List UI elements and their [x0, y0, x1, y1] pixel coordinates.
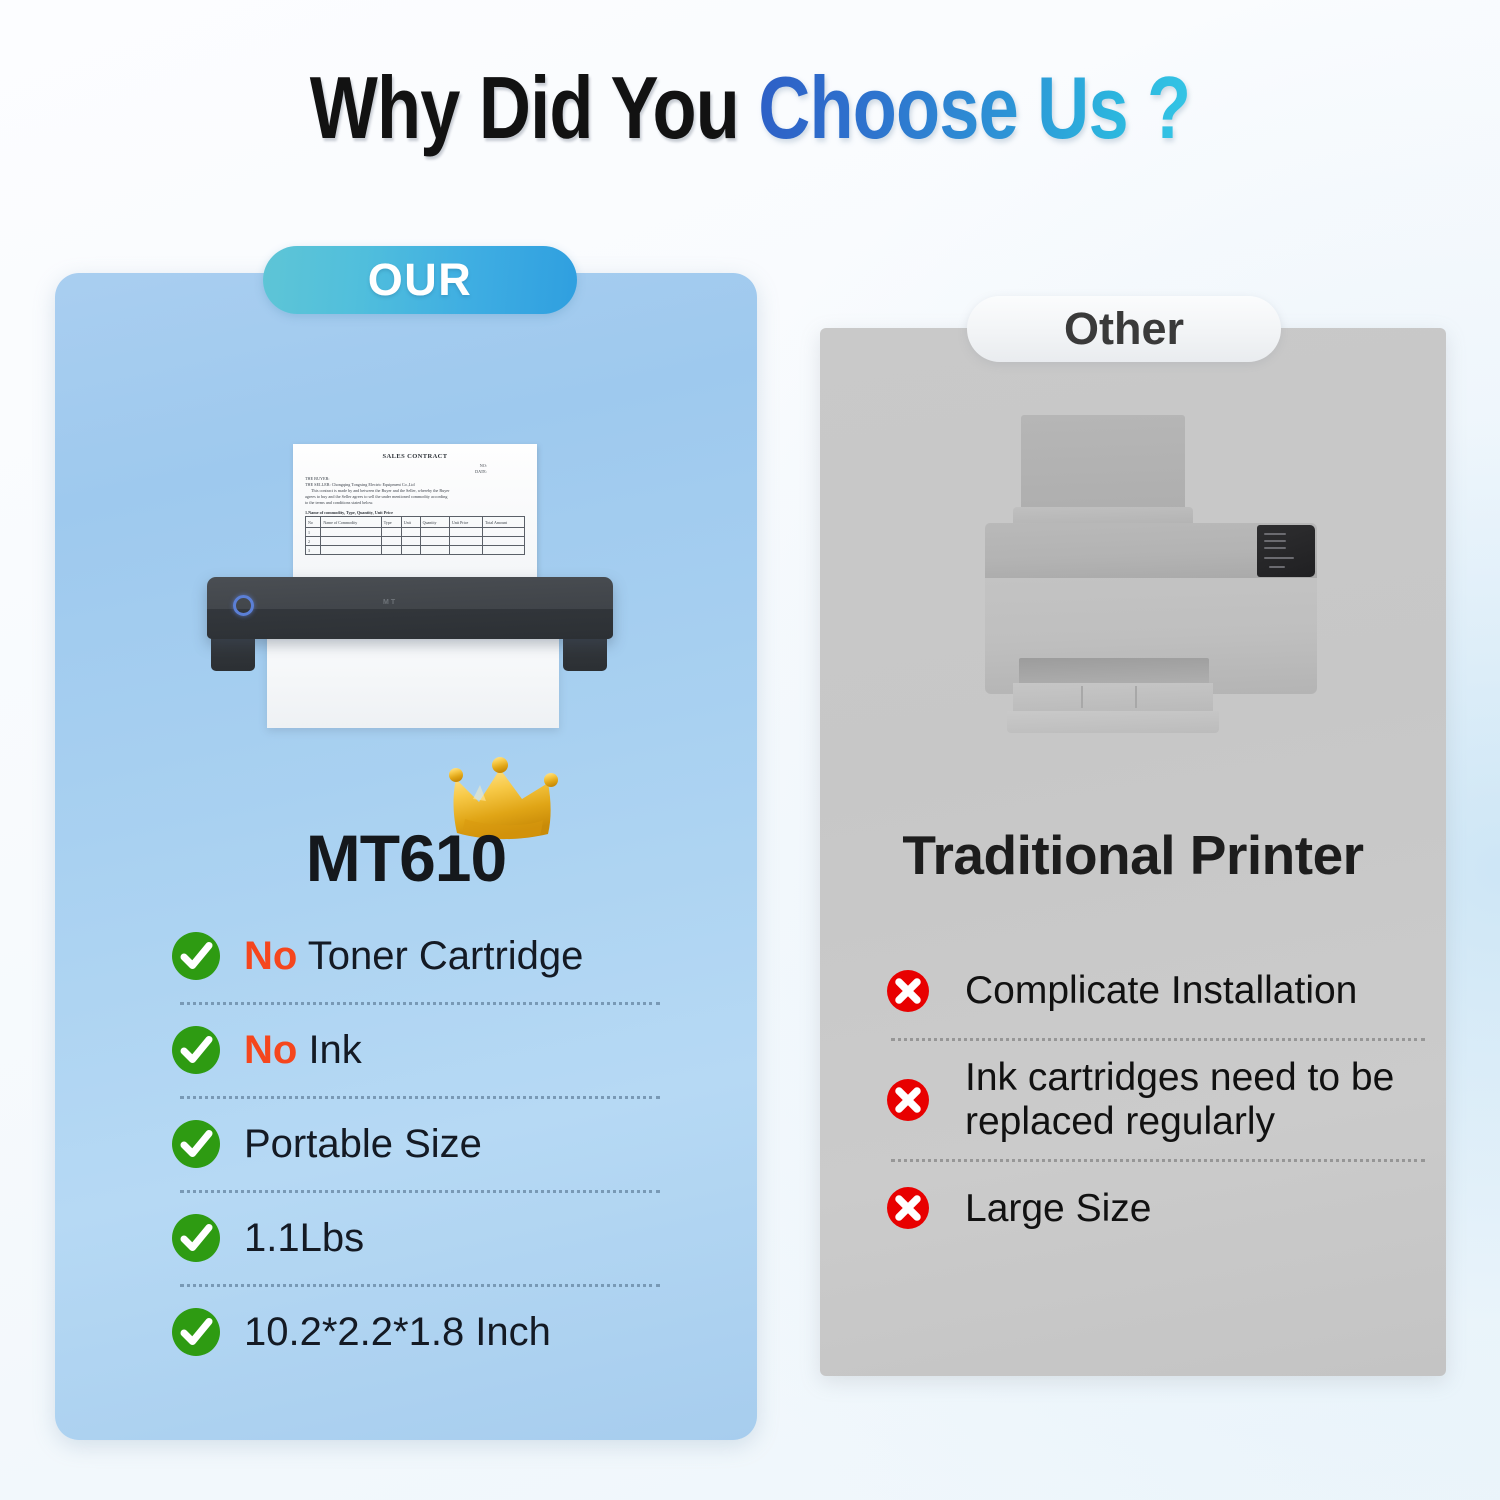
table-header-cell: Unit Price: [449, 517, 482, 528]
table-cell: [401, 537, 420, 546]
list-item-label: No Toner Cartridge: [244, 934, 583, 979]
table-cell: 3: [306, 546, 321, 555]
other-feature-list: Complicate Installation Ink cartridges n…: [885, 960, 1425, 1239]
list-item-label: Large Size: [965, 1187, 1151, 1231]
red-cross-icon: [885, 968, 931, 1014]
no-prefix: No: [244, 1028, 297, 1072]
list-item-label: Ink cartridges need to be replaced regul…: [965, 1056, 1425, 1143]
table-cell: [420, 546, 449, 555]
table-cell: [449, 537, 482, 546]
green-check-icon: [170, 930, 222, 982]
list-item-label: Portable Size: [244, 1122, 482, 1167]
table-header-cell: Quantity: [420, 517, 449, 528]
table-header-cell: No: [306, 517, 321, 528]
document-section-label: 1.Name of commodity, Type, Quantity, Uni…: [305, 510, 525, 515]
list-item-label: Complicate Installation: [965, 969, 1357, 1013]
page-title-dark: Why Did You: [310, 58, 739, 157]
table-header-cell: Type: [381, 517, 401, 528]
list-divider: [891, 1159, 1425, 1162]
green-check-icon: [170, 1024, 222, 1076]
list-item: No Toner Cartridge: [170, 925, 660, 987]
document-table: No Name of Commodity Type Unit Quantity …: [305, 516, 525, 555]
list-divider: [180, 1284, 660, 1287]
list-divider: [180, 1190, 660, 1193]
page-title: Why Did You Choose Us ?: [0, 62, 1500, 154]
our-product-name: MT610: [55, 820, 757, 896]
control-panel: [1257, 525, 1315, 577]
list-item: No Ink: [170, 1019, 660, 1081]
table-header-row: No Name of Commodity Type Unit Quantity …: [306, 517, 525, 528]
mt610-printer-illustration: SALES CONTRACT NO: DATE: THE BUYER: THE …: [205, 432, 615, 732]
page-title-blue: Choose Us ?: [758, 58, 1190, 157]
our-feature-list: No Toner Cartridge No Ink Portable Size …: [170, 925, 660, 1363]
red-cross-icon: [885, 1185, 931, 1231]
table-cell: [321, 546, 381, 555]
other-badge-label: Other: [1064, 303, 1184, 355]
panel-button: [1264, 557, 1294, 559]
table-header-cell: Name of Commodity: [321, 517, 381, 528]
table-row: 3: [306, 546, 525, 555]
panel-indicator: [1264, 547, 1286, 549]
paper-feed-tray: [1021, 415, 1185, 515]
our-badge-label: OUR: [368, 254, 473, 306]
table-cell: [449, 528, 482, 537]
our-badge: OUR: [263, 246, 577, 314]
printer-brand-mark: MT: [383, 599, 397, 606]
other-product-name: Traditional Printer: [820, 823, 1446, 887]
list-divider: [180, 1096, 660, 1099]
list-item-label: 10.2*2.2*1.8 Inch: [244, 1310, 551, 1355]
table-cell: 2: [306, 537, 321, 546]
document-body-3: to the terms and conditions stated below…: [305, 500, 525, 506]
document-title: SALES CONTRACT: [305, 453, 525, 460]
list-item: Complicate Installation: [885, 960, 1425, 1022]
list-item-label: 1.1Lbs: [244, 1216, 364, 1261]
list-item: 10.2*2.2*1.8 Inch: [170, 1301, 660, 1363]
table-cell: [420, 537, 449, 546]
list-item-label: No Ink: [244, 1028, 362, 1073]
table-cell: [483, 528, 525, 537]
table-cell: [321, 528, 381, 537]
feature-text: Ink: [297, 1028, 361, 1072]
list-item: 1.1Lbs: [170, 1207, 660, 1269]
printer-body: MT: [207, 577, 613, 639]
table-cell: [381, 537, 401, 546]
table-cell: [401, 546, 420, 555]
panel-indicator: [1264, 540, 1286, 542]
panel-label: [1269, 566, 1285, 568]
output-slot: [1019, 658, 1209, 686]
table-cell: [381, 528, 401, 537]
traditional-printer-illustration: [985, 415, 1335, 785]
table-cell: [483, 537, 525, 546]
other-badge: Other: [967, 296, 1281, 362]
table-cell: 1: [306, 528, 321, 537]
table-cell: [449, 546, 482, 555]
green-check-icon: [170, 1212, 222, 1264]
table-cell: [321, 537, 381, 546]
table-cell: [401, 528, 420, 537]
panel-indicator: [1264, 533, 1286, 535]
table-header-cell: Total Amount: [483, 517, 525, 528]
power-button-icon: [233, 595, 254, 616]
list-item: Large Size: [885, 1177, 1425, 1239]
list-divider: [180, 1002, 660, 1005]
printed-document: SALES CONTRACT NO: DATE: THE BUYER: THE …: [293, 444, 537, 579]
table-cell: [483, 546, 525, 555]
table-row: 1: [306, 528, 525, 537]
output-paper: [267, 628, 559, 728]
feature-text: Toner Cartridge: [297, 934, 583, 978]
green-check-icon: [170, 1306, 222, 1358]
no-prefix: No: [244, 934, 297, 978]
list-divider: [891, 1038, 1425, 1041]
red-cross-icon: [885, 1077, 931, 1123]
table-cell: [420, 528, 449, 537]
list-item: Portable Size: [170, 1113, 660, 1175]
green-check-icon: [170, 1118, 222, 1170]
list-item: Ink cartridges need to be replaced regul…: [885, 1056, 1425, 1143]
table-header-cell: Unit: [401, 517, 420, 528]
table-row: 2: [306, 537, 525, 546]
output-tray-lip: [1007, 711, 1219, 733]
table-cell: [381, 546, 401, 555]
